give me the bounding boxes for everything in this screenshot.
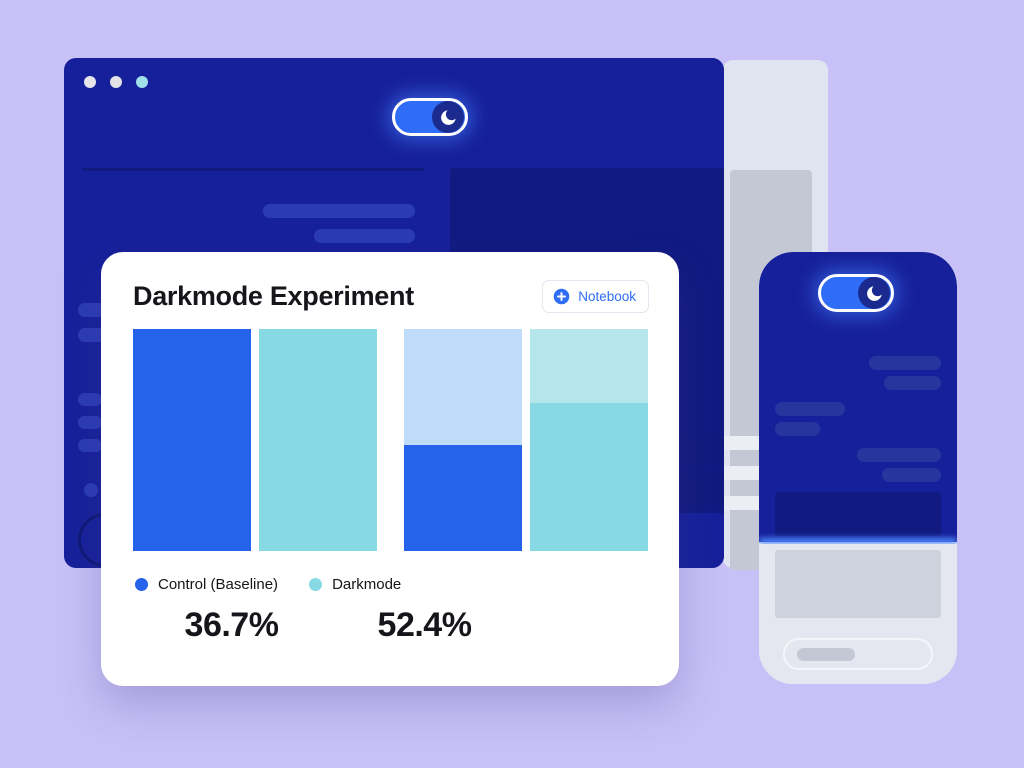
legend-item-control: Control (Baseline) <box>135 576 278 593</box>
window-traffic-lights <box>84 76 148 88</box>
phone-mockup <box>759 252 957 684</box>
bar-group-converted <box>404 329 648 551</box>
placeholder-line-7 <box>78 439 102 452</box>
phone-placeholder-5 <box>857 448 941 462</box>
darkmode-toggle-browser[interactable] <box>392 98 468 136</box>
bar-filled-segment <box>133 329 251 551</box>
stat-value-control: 36.7% <box>135 606 328 645</box>
bar-filled-segment <box>259 329 377 551</box>
placeholder-line-6 <box>78 416 102 429</box>
phone-placeholder-1 <box>869 356 941 370</box>
moon-icon <box>858 277 890 309</box>
placeholder-line-5 <box>78 393 102 406</box>
phone-placeholder-2 <box>884 376 941 390</box>
page-title: Darkmode Experiment <box>133 281 414 312</box>
notebook-button-label: Notebook <box>578 289 636 304</box>
card-header: Darkmode Experiment Notebook <box>133 276 649 316</box>
screenshot-stage: Darkmode Experiment Notebook <box>0 0 1024 768</box>
sidebar-bullet-icon <box>84 483 98 497</box>
moon-icon <box>432 101 464 133</box>
experiment-card: Darkmode Experiment Notebook <box>101 252 679 686</box>
darkmode-toggle-phone[interactable] <box>818 274 894 312</box>
bar-darkmode-converted[interactable] <box>530 329 648 551</box>
phone-search-bar-fill <box>797 648 855 661</box>
minimize-dot[interactable] <box>110 76 122 88</box>
legend-label-control: Control (Baseline) <box>158 576 278 593</box>
phone-placeholder-4 <box>775 422 820 436</box>
legend-dot-darkmode <box>309 578 322 591</box>
stat-value-darkmode: 52.4% <box>328 606 521 645</box>
header-divider <box>82 168 424 171</box>
placeholder-line-1 <box>263 204 415 218</box>
phone-gray-block <box>775 550 941 618</box>
phone-placeholder-6 <box>882 468 941 482</box>
phone-placeholder-3 <box>775 402 845 416</box>
maximize-dot[interactable] <box>136 76 148 88</box>
bar-remainder-segment <box>530 329 648 403</box>
bar-filled-segment <box>530 403 648 551</box>
placeholder-line-2 <box>314 229 415 243</box>
legend-item-darkmode: Darkmode <box>309 576 401 593</box>
bar-spacer <box>522 329 530 551</box>
legend-label-darkmode: Darkmode <box>332 576 401 593</box>
plus-circle-icon <box>553 288 570 305</box>
bar-control-converted[interactable] <box>404 329 522 551</box>
notebook-button[interactable]: Notebook <box>542 280 649 313</box>
legend-dot-control <box>135 578 148 591</box>
phone-dark-block <box>775 492 941 536</box>
chart-stats: 36.7% 52.4% <box>135 606 521 645</box>
close-dot[interactable] <box>84 76 96 88</box>
bar-filled-segment <box>404 445 522 551</box>
bar-group-total <box>133 329 377 551</box>
bar-control-total[interactable] <box>133 329 251 551</box>
chart-legend: Control (Baseline) Darkmode <box>135 576 401 593</box>
bar-chart <box>133 329 653 551</box>
bar-darkmode-total[interactable] <box>259 329 377 551</box>
bar-spacer <box>251 329 259 551</box>
bar-remainder-segment <box>404 329 522 445</box>
